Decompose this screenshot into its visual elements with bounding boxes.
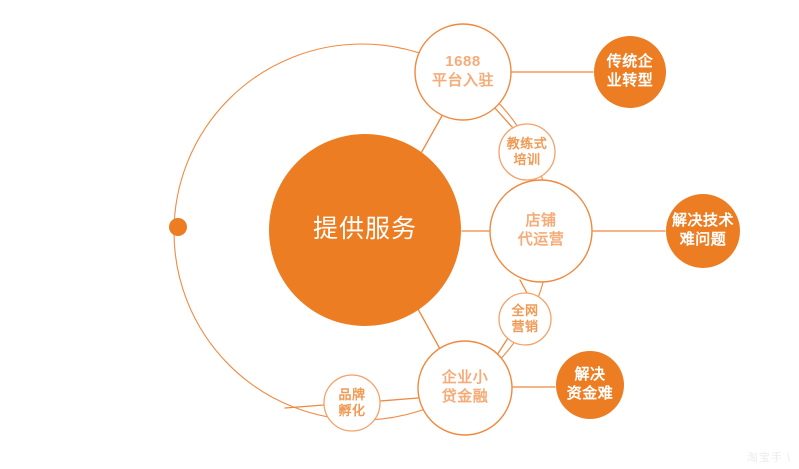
branch-shop-operation-circle[interactable] (490, 180, 592, 282)
connector-coach-training-circle[interactable] (499, 124, 555, 180)
orbit-marker-dot (169, 218, 187, 236)
branch-micro-loan-circle[interactable] (418, 341, 512, 435)
outcome-traditional-transform-circle[interactable] (594, 36, 666, 108)
connector-omni-marketing-circle[interactable] (499, 293, 551, 345)
outcome-funding-problem-circle[interactable] (556, 351, 624, 419)
link-microloan-to-brand (380, 398, 418, 401)
center-node-circle[interactable] (269, 134, 461, 326)
connector-brand-incubation-circle[interactable] (324, 375, 380, 431)
diagram-svg (0, 0, 799, 469)
watermark: 淘宝手 \ (747, 449, 791, 465)
link-center-to-microloan (418, 309, 440, 349)
branch-1688-circle[interactable] (415, 24, 511, 120)
outcome-tech-problem-circle[interactable] (666, 194, 740, 268)
link-center-to-1688 (420, 114, 443, 155)
diagram-canvas: 提供服务1688平台入驻店铺代运营企业小贷金融教练式培训全网营销品牌孵化传统企业… (0, 0, 799, 469)
link-1688-to-coach (494, 107, 513, 128)
link-shop-to-omni (520, 280, 527, 293)
